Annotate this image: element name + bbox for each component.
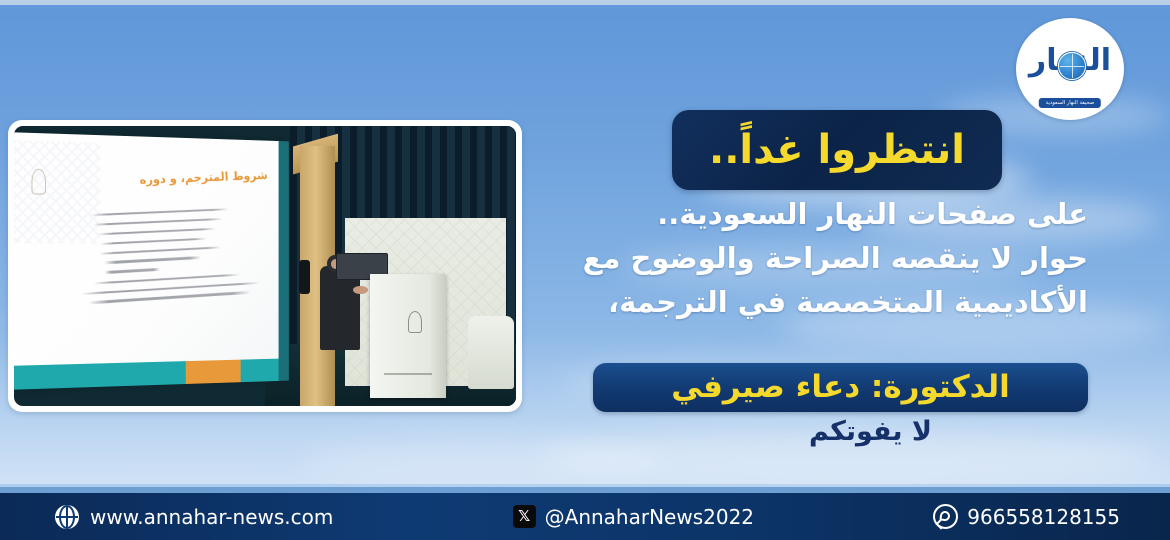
- headline-badge: انتظروا غداً..: [672, 110, 1002, 190]
- projection-screen: شروط المترجم، و دوره: [14, 132, 289, 390]
- globe-icon: [1058, 52, 1086, 80]
- website-label: www.annahar-news.com: [90, 505, 333, 529]
- podium-emblem-icon: [408, 311, 422, 333]
- logo-ribbon-text: صحيفة النهار السعودية: [1039, 98, 1101, 108]
- slide-logo-icon: [31, 168, 46, 194]
- x-icon: 𝕏: [513, 505, 536, 528]
- headline-text: انتظروا غداً..: [709, 130, 965, 170]
- annahar-logo[interactable]: النهار صحيفة النهار السعودية: [1016, 18, 1124, 120]
- event-photo: شروط المترجم، و دوره: [8, 120, 522, 412]
- twitter-label: @AnnaharNews2022: [545, 505, 754, 529]
- website-link[interactable]: www.annahar-news.com: [55, 505, 333, 529]
- lede-line-1: على صفحات النهار السعودية..: [478, 192, 1088, 236]
- speaker-hand: [353, 286, 368, 294]
- logo-inner: النهار صحيفة النهار السعودية: [1024, 26, 1116, 112]
- twitter-link[interactable]: 𝕏 @AnnaharNews2022: [513, 505, 754, 529]
- guest-name-badge: الدكتورة: دعاء صيرفي: [593, 363, 1088, 412]
- whatsapp-icon: [933, 504, 958, 529]
- news-promo-banner: شروط المترجم، و دوره: [0, 0, 1170, 540]
- screen-edge: [278, 141, 289, 381]
- podium-text-line: [384, 373, 432, 375]
- chair: [468, 316, 513, 389]
- photo-content: شروط المترجم، و دوره: [14, 126, 516, 406]
- microphone-stand: [299, 260, 310, 294]
- globe-icon: [55, 505, 79, 529]
- slide-footer-bar: [14, 358, 289, 389]
- lede-paragraph: على صفحات النهار السعودية.. حوار لا ينقص…: [478, 192, 1088, 324]
- lede-line-3: الأكاديمية المتخصصة في الترجمة،: [478, 280, 1088, 324]
- podium: [370, 274, 445, 397]
- whatsapp-link[interactable]: 966558128155: [933, 504, 1120, 529]
- globe-rings: [59, 505, 75, 529]
- lede-line-2: حوار لا ينقصه الصراحة والوضوح مع: [478, 236, 1088, 280]
- contact-footer: www.annahar-news.com 𝕏 @AnnaharNews2022 …: [0, 493, 1170, 540]
- slide-title: شروط المترجم، و دوره: [139, 168, 268, 187]
- slide-body-lines: [53, 207, 267, 314]
- top-edge-strip: [0, 0, 1170, 5]
- kicker-text: لا يفوتكم: [809, 418, 932, 445]
- whatsapp-label: 966558128155: [967, 505, 1120, 529]
- guest-name-text: الدكتورة: دعاء صيرفي: [671, 372, 1010, 403]
